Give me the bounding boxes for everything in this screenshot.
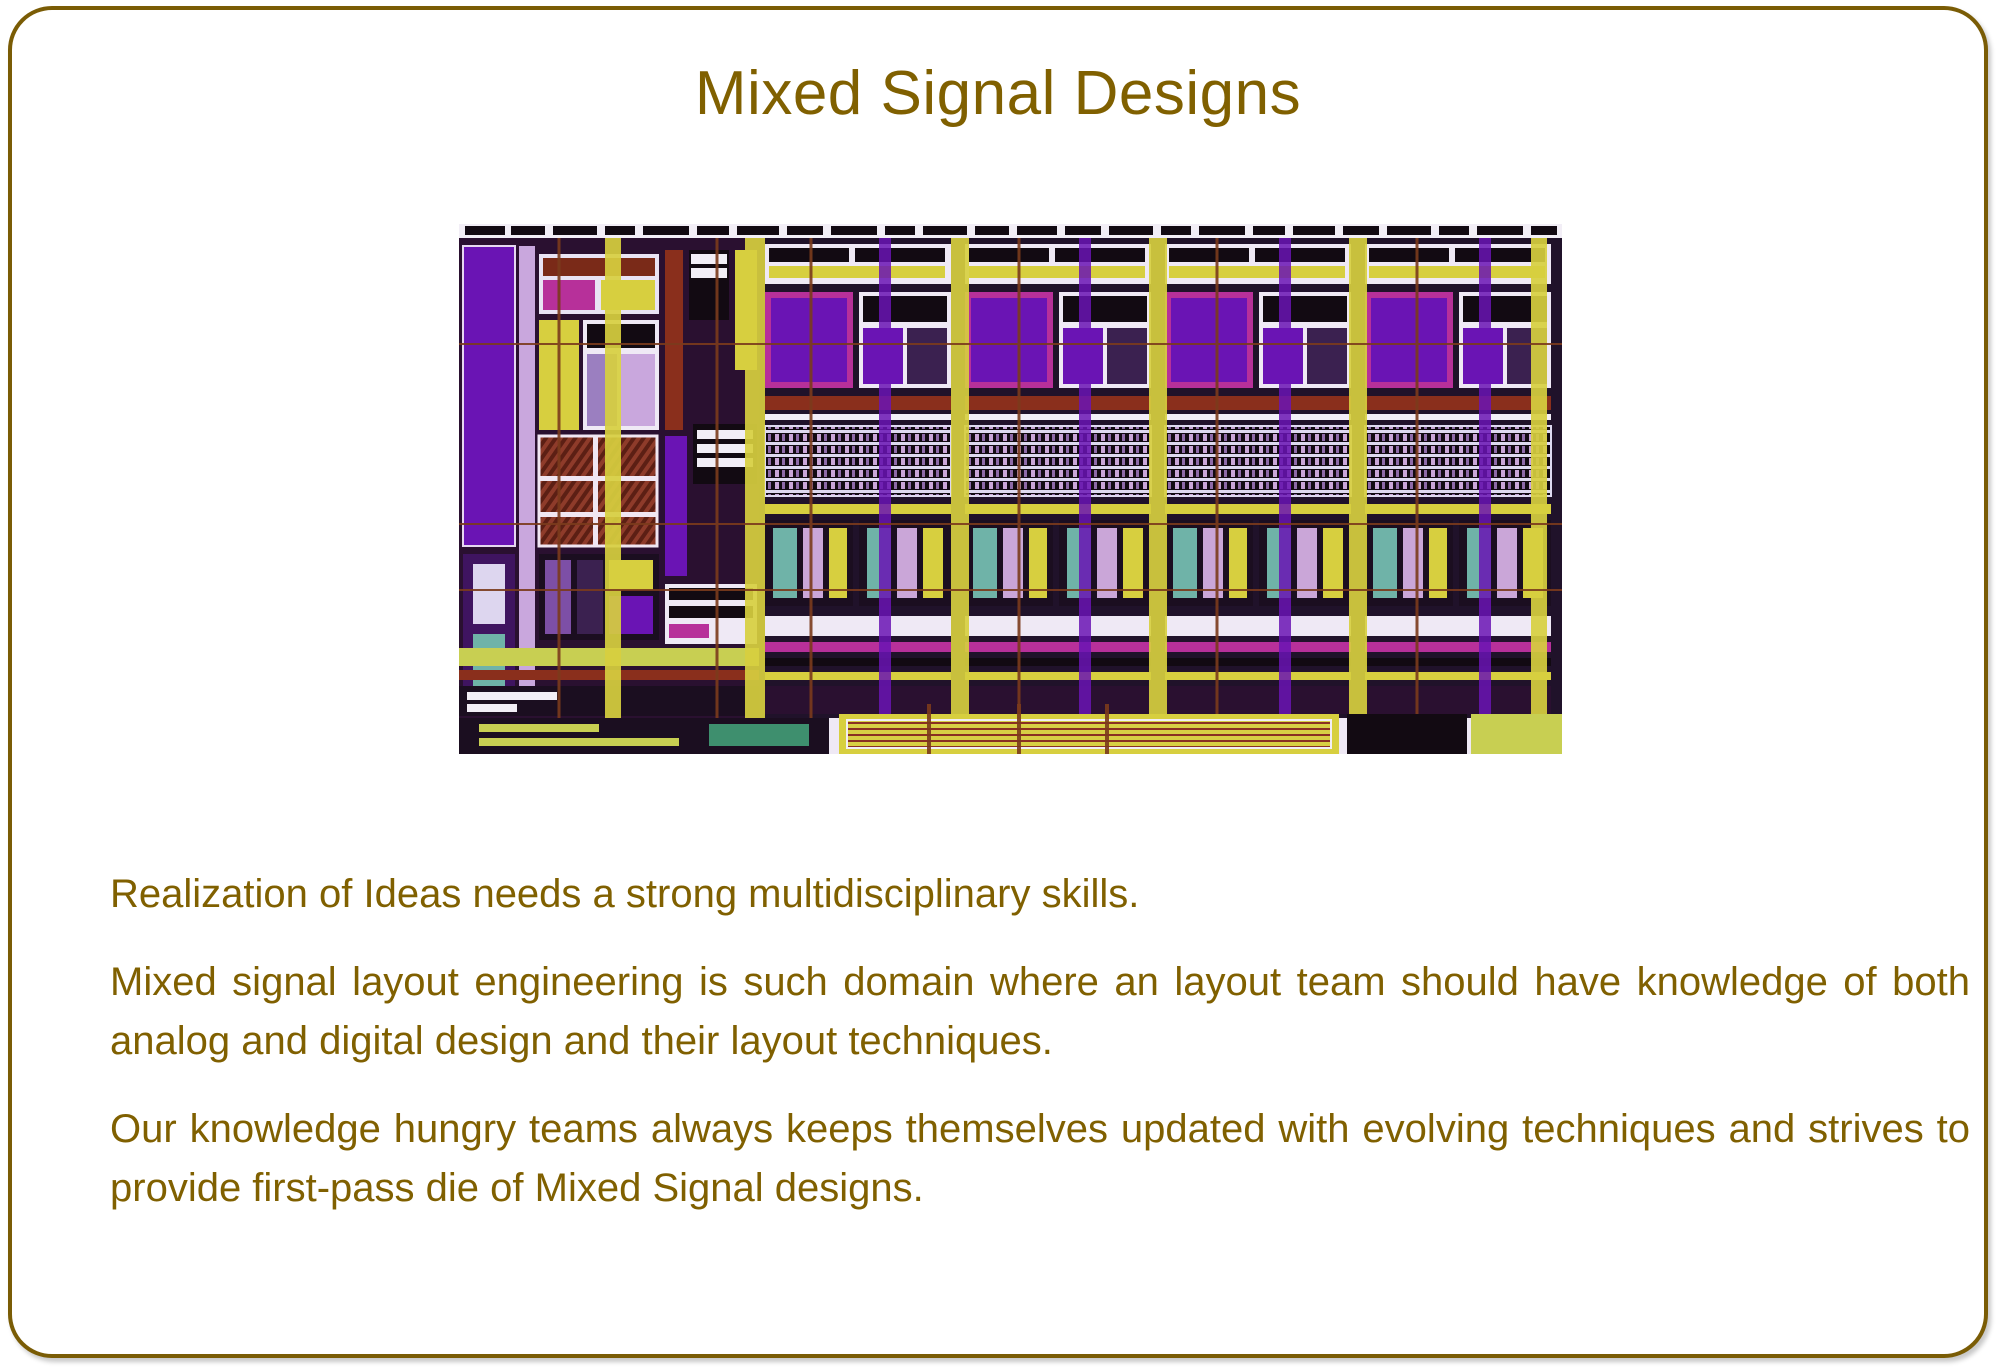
paragraph-2: Mixed signal layout engineering is such … <box>110 953 1970 1072</box>
body-copy: Realization of Ideas needs a strong mult… <box>110 865 1970 1219</box>
page-title: Mixed Signal Designs <box>12 58 1984 129</box>
paragraph-3: Our knowledge hungry teams always keeps … <box>110 1100 1970 1219</box>
mixed-signal-ic-layout-image <box>459 224 1562 754</box>
slide-frame: Mixed Signal Designs <box>8 6 1988 1358</box>
paragraph-1: Realization of Ideas needs a strong mult… <box>110 865 1970 925</box>
ic-layout-graphic <box>459 224 1562 754</box>
